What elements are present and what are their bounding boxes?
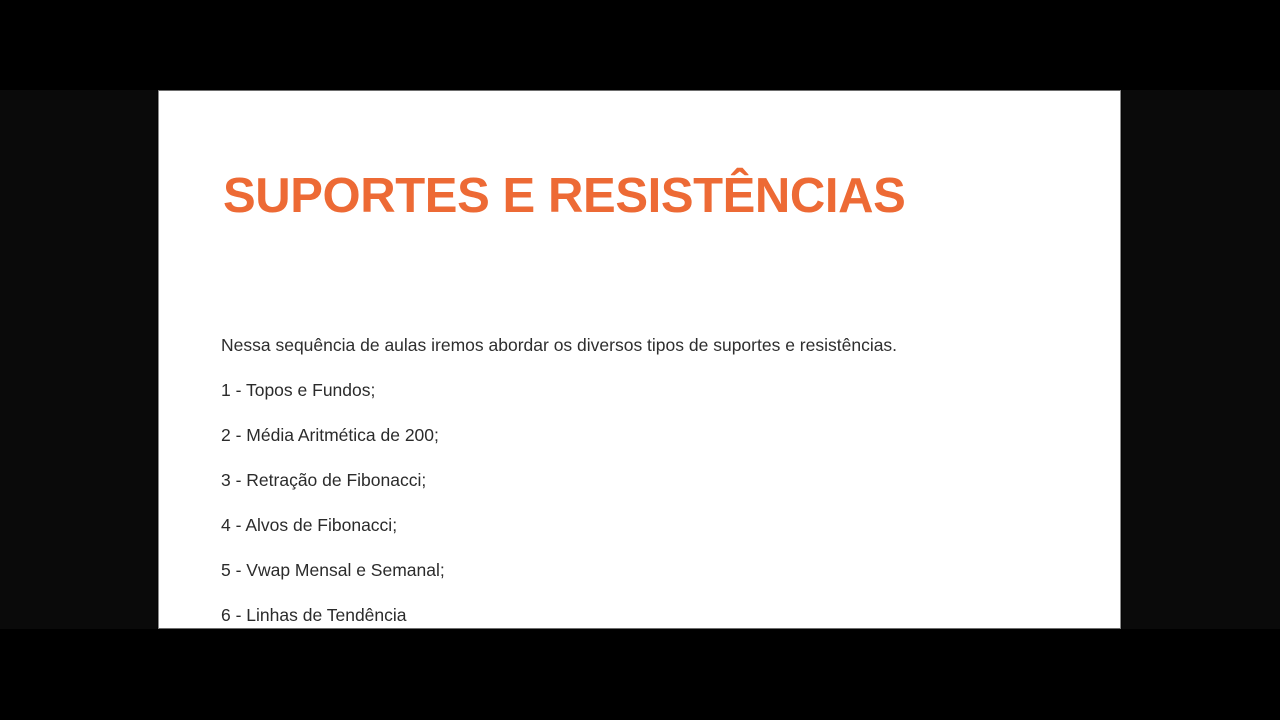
list-item: 6 - Linhas de Tendência bbox=[221, 604, 1081, 629]
list-item: 2 - Média Aritmética de 200; bbox=[221, 424, 1081, 469]
letterbox-band-left bbox=[0, 90, 157, 629]
slide-body: Nessa sequência de aulas iremos abordar … bbox=[221, 334, 1081, 629]
slide-title: SUPORTES E RESISTÊNCIAS bbox=[223, 169, 905, 223]
letterbox-band-bottom bbox=[0, 629, 1280, 720]
letterbox-band-right bbox=[1122, 90, 1280, 629]
list-item: 3 - Retração de Fibonacci; bbox=[221, 469, 1081, 514]
letterbox-band-top bbox=[0, 0, 1280, 90]
list-item: 5 - Vwap Mensal e Semanal; bbox=[221, 559, 1081, 604]
video-player-viewport: SUPORTES E RESISTÊNCIAS Nessa sequência … bbox=[0, 0, 1280, 720]
presentation-slide: SUPORTES E RESISTÊNCIAS Nessa sequência … bbox=[158, 90, 1121, 629]
list-item: 1 - Topos e Fundos; bbox=[221, 379, 1081, 424]
slide-intro-text: Nessa sequência de aulas iremos abordar … bbox=[221, 334, 1081, 379]
list-item: 4 - Alvos de Fibonacci; bbox=[221, 514, 1081, 559]
